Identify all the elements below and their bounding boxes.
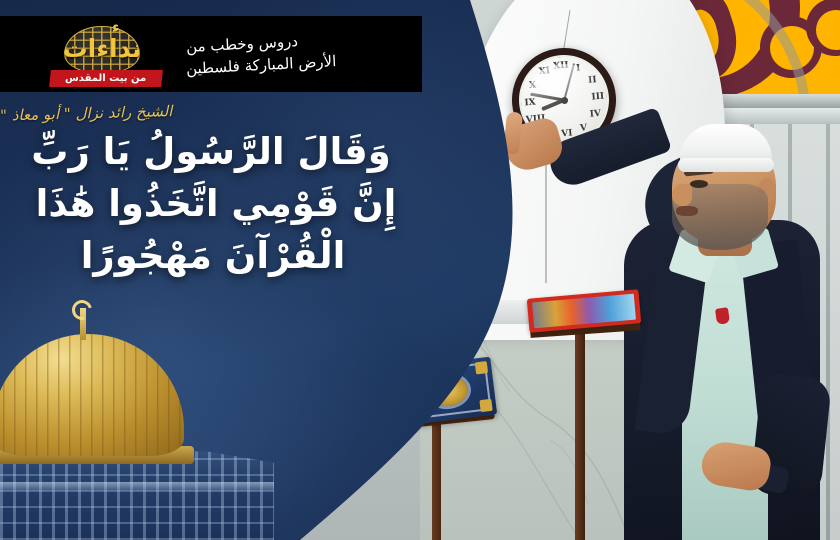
logo-wordmark: نداءات — [60, 22, 144, 74]
tagline-line-1: دروس وخطب من — [186, 32, 299, 56]
pillar-cable — [545, 155, 547, 283]
logo-red-banner: من بيت المقدس — [49, 70, 163, 87]
video-thumbnail: XII I II III IV V VI VII VIII IX X XI — [0, 0, 840, 540]
verse-line-3: الْقُرْآنَ مَهْجُورًا — [0, 230, 432, 282]
dome-of-the-rock — [0, 300, 274, 540]
crescent-finial-icon — [68, 296, 95, 323]
channel-logo[interactable]: نداءات ء من بيت المقدس — [50, 20, 162, 90]
sign-stand-post — [575, 330, 585, 540]
verse-line-1: وَقَالَ الرَّسُولُ يَا رَبِّ — [0, 126, 432, 178]
verse-line-2: إِنَّ قَوْمِي اتَّخَذُوا هَٰذَا — [0, 178, 432, 230]
speaker-figure — [610, 126, 840, 540]
channel-tagline: دروس وخطب من الأرض المباركة فلسطين — [186, 22, 412, 86]
logo-banner-label: من بيت المقدس — [65, 73, 146, 84]
logo-hamza-mark: ء — [112, 18, 120, 36]
quran-stand-post — [432, 420, 441, 540]
quran-verse: وَقَالَ الرَّسُولُ يَا رَبِّ إِنَّ قَوْم… — [0, 126, 432, 281]
tagline-line-2: الأرض المباركة فلسطين — [186, 52, 337, 78]
